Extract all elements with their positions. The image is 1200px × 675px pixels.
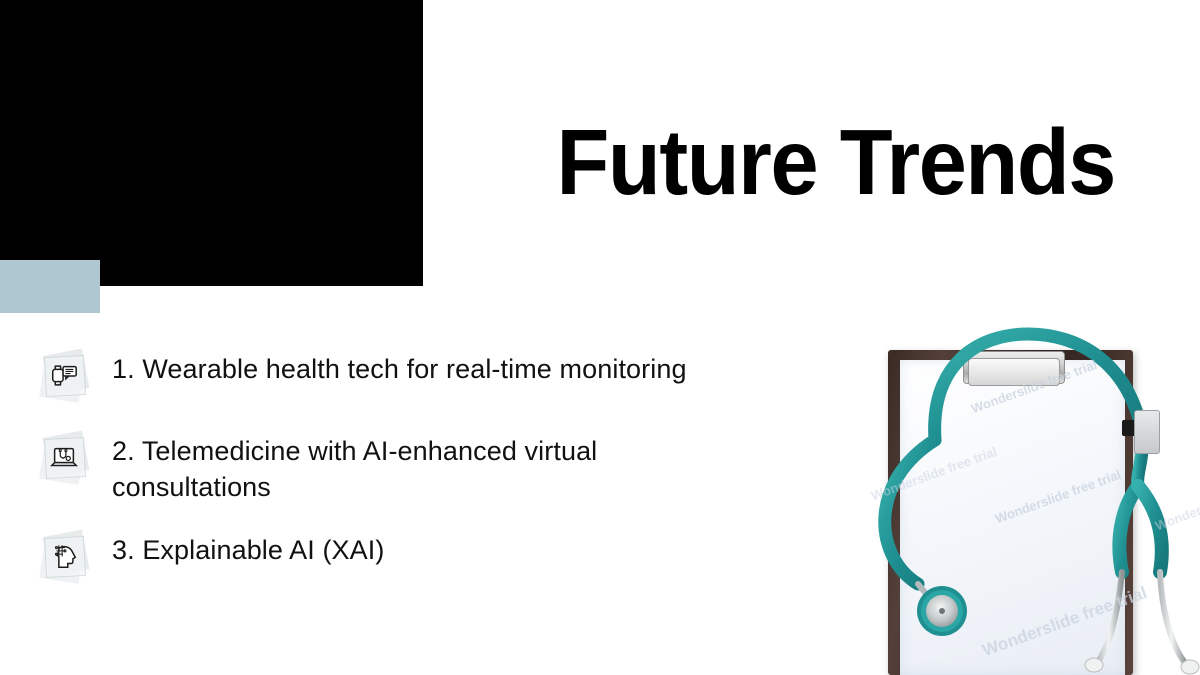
- slide-canvas: Future Trends 1. Wearable health tech fo…: [0, 0, 1200, 675]
- stethoscope-graphic: [860, 322, 1200, 675]
- bullet-list: 1. Wearable health tech for real-time mo…: [40, 348, 800, 611]
- list-item-label: 2. Telemedicine with AI-enhanced virtual…: [112, 430, 752, 505]
- list-item: 3. Explainable AI (XAI): [40, 529, 800, 587]
- clipboard-stethoscope-photo: Wonderslide free trial Wonderslide free …: [860, 322, 1200, 675]
- list-item: 1. Wearable health tech for real-time mo…: [40, 348, 800, 406]
- laptop-stethoscope-icon: [40, 432, 96, 488]
- page-title: Future Trends: [543, 116, 1115, 209]
- head-circuit-icon: [40, 531, 96, 587]
- smartwatch-message-icon: [40, 350, 96, 406]
- accent-decorative-block: [0, 260, 100, 313]
- clipboard-tag: [1134, 410, 1160, 454]
- black-decorative-block: [0, 0, 423, 286]
- list-item-label: 3. Explainable AI (XAI): [112, 529, 384, 569]
- list-item-label: 1. Wearable health tech for real-time mo…: [112, 348, 687, 388]
- list-item: 2. Telemedicine with AI-enhanced virtual…: [40, 430, 800, 505]
